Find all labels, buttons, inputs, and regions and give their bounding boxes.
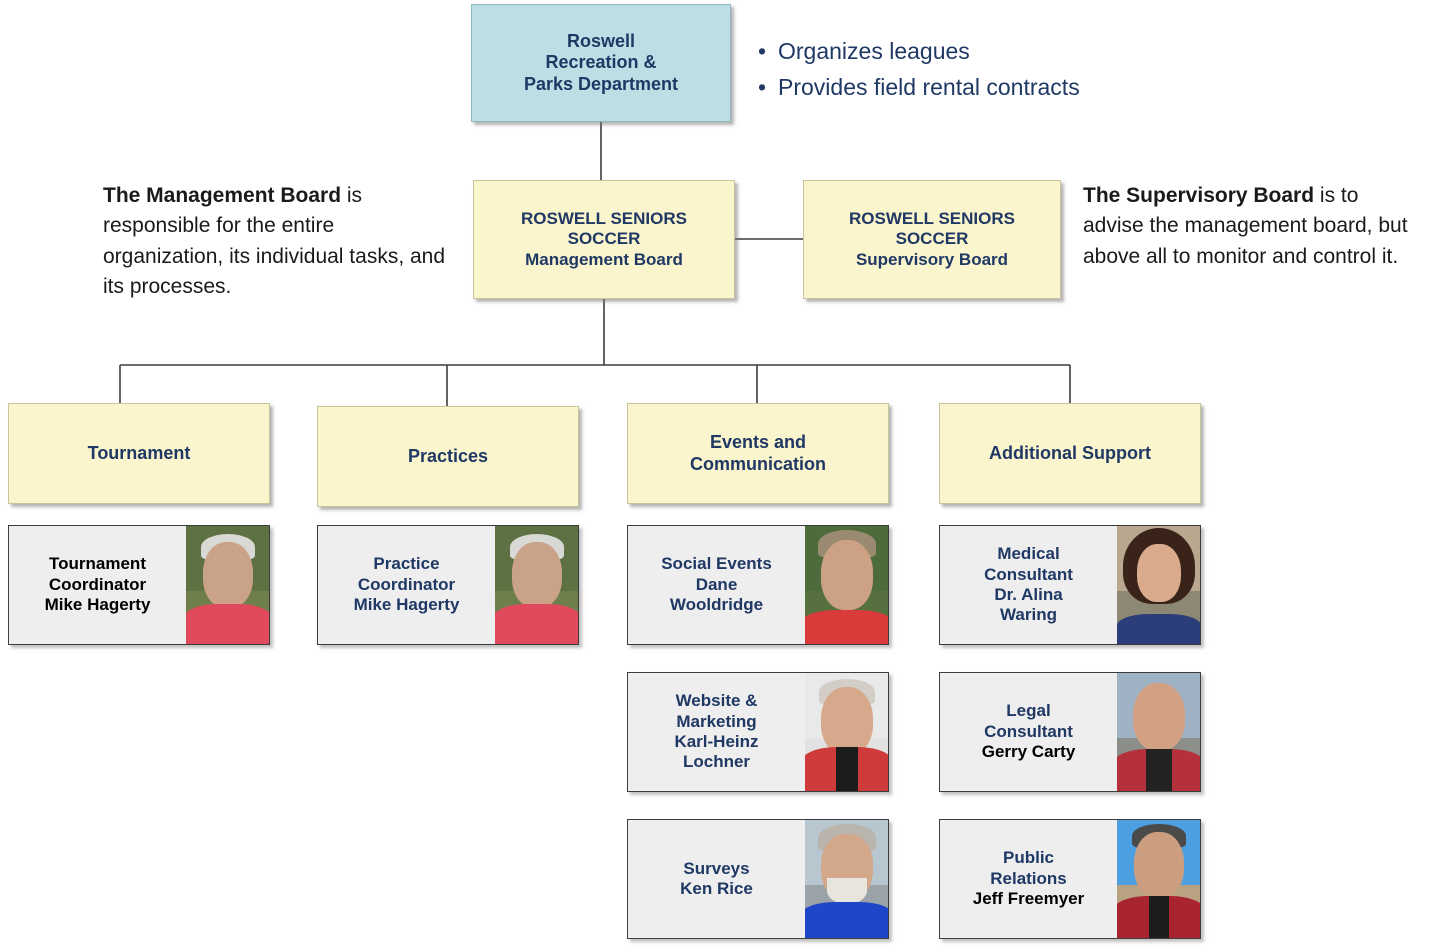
person-text-tournament-coordinator: Tournament Coordinator Mike Hagerty — [9, 526, 186, 644]
category-box-practices[interactable]: Practices — [317, 406, 579, 507]
person-role-line-2: Coordinator — [358, 575, 455, 595]
person-text-surveys: Surveys Ken Rice — [628, 820, 805, 938]
person-text-medical-consultant: Medical Consultant Dr. Alina Waring — [940, 526, 1117, 644]
person-role-line-2: Coordinator — [49, 575, 146, 595]
person-role-line-1: Practice — [373, 554, 439, 574]
rec-line-3: Parks Department — [524, 74, 678, 95]
person-card-tournament-coordinator[interactable]: Tournament Coordinator Mike Hagerty — [8, 525, 270, 645]
category-label-additional-support: Additional Support — [989, 443, 1151, 464]
portrait-jeff-freemyer — [1117, 820, 1200, 938]
person-name: Karl-Heinz Lochner — [658, 732, 776, 773]
person-name: Gerry Carty — [982, 742, 1076, 762]
sup-line-3: Supervisory Board — [856, 250, 1008, 270]
recreation-responsibilities-list: •Organizes leagues •Provides field renta… — [758, 34, 1188, 105]
person-text-practice-coordinator: Practice Coordinator Mike Hagerty — [318, 526, 495, 644]
person-card-legal-consultant[interactable]: Legal Consultant Gerry Carty — [939, 672, 1201, 792]
person-card-public-relations[interactable]: Public Relations Jeff Freemyer — [939, 819, 1201, 939]
management-board-description: The Management Board is responsible for … — [103, 181, 455, 303]
portrait-gerry-carty — [1117, 673, 1200, 791]
person-name: Jeff Freemyer — [973, 889, 1085, 909]
supervisory-board-description: The Supervisory Board is to advise the m… — [1083, 181, 1413, 272]
mgmt-line-3: Management Board — [525, 250, 683, 270]
org-chart-canvas: Roswell Recreation & Parks Department •O… — [0, 0, 1442, 950]
category-box-tournament[interactable]: Tournament — [8, 403, 270, 504]
category-label-tournament: Tournament — [88, 443, 191, 464]
person-role-line-2: Consultant — [984, 565, 1073, 585]
person-role-line-1: Medical — [997, 544, 1059, 564]
mgmt-line-2: SOCCER — [568, 229, 641, 249]
person-role-line-1: Website & — [676, 691, 758, 711]
category-label-events-line-1: Events and — [710, 432, 806, 453]
person-role-line-1: Surveys — [683, 859, 749, 879]
mgmt-line-1: ROSWELL SENIORS — [521, 209, 687, 229]
management-description-lead: The Management Board — [103, 184, 341, 207]
person-role-line-2: Consultant — [984, 722, 1073, 742]
person-role-line-1: Legal — [1006, 701, 1050, 721]
person-role-line-2: Relations — [990, 869, 1067, 889]
person-name: Ken Rice — [680, 879, 753, 899]
bullet-item-0: •Organizes leagues — [758, 34, 1188, 70]
person-card-medical-consultant[interactable]: Medical Consultant Dr. Alina Waring — [939, 525, 1201, 645]
category-box-additional-support[interactable]: Additional Support — [939, 403, 1201, 504]
person-text-website-marketing: Website & Marketing Karl-Heinz Lochner — [628, 673, 805, 791]
bullet-marker-1: • — [758, 70, 778, 106]
person-name: Mike Hagerty — [45, 595, 151, 615]
category-label-events-line-2: Communication — [690, 454, 826, 475]
portrait-karl-heinz-lochner — [805, 673, 888, 791]
person-role-line-1: Social Events — [661, 554, 772, 574]
category-box-events-and-communication[interactable]: Events and Communication — [627, 403, 889, 504]
rec-line-1: Roswell — [567, 31, 635, 52]
bullet-text-1: Provides field rental contracts — [778, 74, 1080, 100]
box-supervisory-board[interactable]: ROSWELL SENIORS SOCCER Supervisory Board — [803, 180, 1061, 299]
person-card-surveys[interactable]: Surveys Ken Rice — [627, 819, 889, 939]
bullet-text-0: Organizes leagues — [778, 38, 970, 64]
person-name: Dr. Alina Waring — [970, 585, 1088, 626]
box-management-board[interactable]: ROSWELL SENIORS SOCCER Management Board — [473, 180, 735, 299]
category-label-practices: Practices — [408, 446, 488, 467]
person-name: Mike Hagerty — [354, 595, 460, 615]
person-role-line-1: Tournament — [49, 554, 146, 574]
portrait-mike-hagerty — [186, 526, 269, 644]
person-role-line-1: Public — [1003, 848, 1054, 868]
person-text-legal-consultant: Legal Consultant Gerry Carty — [940, 673, 1117, 791]
portrait-mike-hagerty — [495, 526, 578, 644]
sup-line-1: ROSWELL SENIORS — [849, 209, 1015, 229]
sup-line-2: SOCCER — [896, 229, 969, 249]
person-card-social-events[interactable]: Social Events Dane Wooldridge — [627, 525, 889, 645]
person-card-practice-coordinator[interactable]: Practice Coordinator Mike Hagerty — [317, 525, 579, 645]
portrait-ken-rice — [805, 820, 888, 938]
supervisory-description-lead: The Supervisory Board — [1083, 184, 1314, 207]
person-text-public-relations: Public Relations Jeff Freemyer — [940, 820, 1117, 938]
bullet-item-1: •Provides field rental contracts — [758, 70, 1188, 106]
portrait-dane-wooldridge — [805, 526, 888, 644]
person-text-social-events: Social Events Dane Wooldridge — [628, 526, 805, 644]
portrait-alina-waring — [1117, 526, 1200, 644]
person-role-line-2: Marketing — [676, 712, 756, 732]
person-card-website-marketing[interactable]: Website & Marketing Karl-Heinz Lochner — [627, 672, 889, 792]
bullet-marker-0: • — [758, 34, 778, 70]
box-recreation-parks-department[interactable]: Roswell Recreation & Parks Department — [471, 4, 731, 122]
rec-line-2: Recreation & — [545, 52, 656, 73]
person-name: Dane Wooldridge — [657, 575, 777, 616]
